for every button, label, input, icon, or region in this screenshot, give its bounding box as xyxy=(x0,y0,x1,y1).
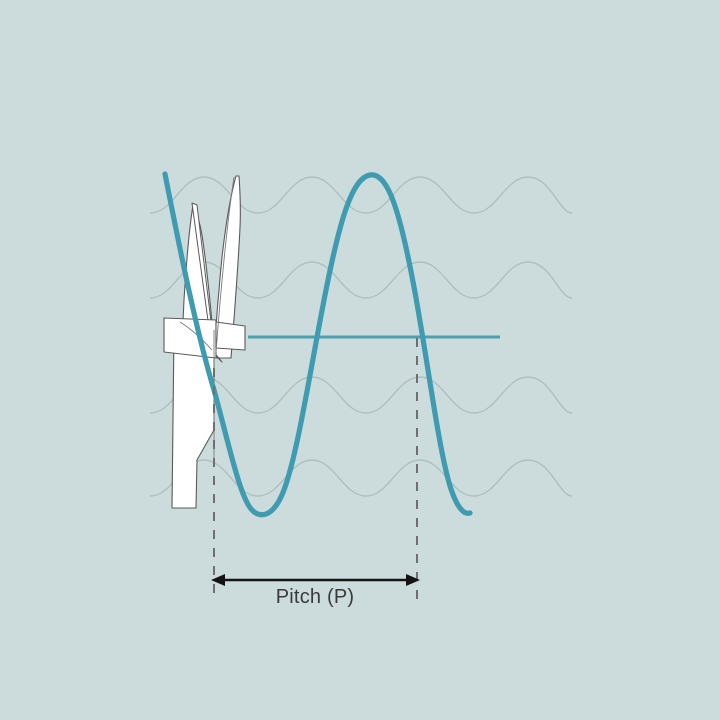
diagram-canvas: Pitch (P) xyxy=(0,0,720,720)
background-rect xyxy=(0,0,720,720)
hub-block-left xyxy=(164,318,216,358)
propeller-pitch-figure xyxy=(0,0,720,720)
hub-block-right xyxy=(216,322,245,350)
